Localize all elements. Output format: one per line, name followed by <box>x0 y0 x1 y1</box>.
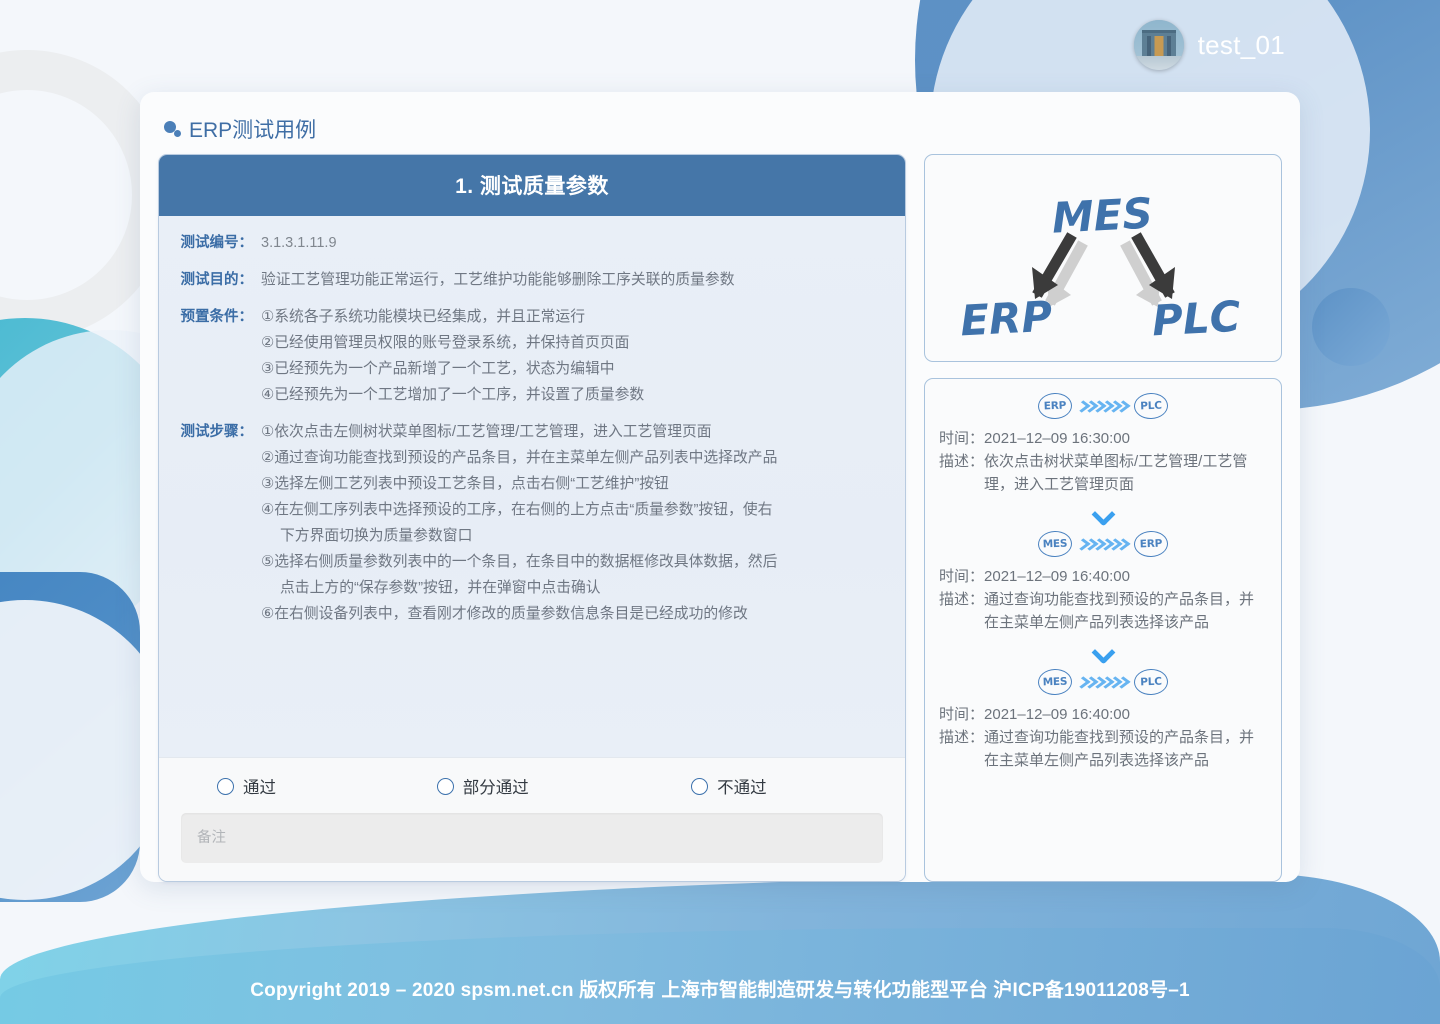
testcase-field-value: 3.1.3.1.11.9 <box>253 230 885 256</box>
timeline-separator <box>939 644 1267 661</box>
dots-icon <box>164 120 182 138</box>
testcase-title: 1. 测试质量参数 <box>159 155 905 216</box>
timeline-time-label: 时间： <box>939 427 984 450</box>
timeline-line: 时间：2021–12–09 16:40:00 <box>939 565 1267 588</box>
timeline-time-value: 2021–12–09 16:30:00 <box>984 427 1267 450</box>
timeline-desc-label: 描述： <box>939 450 984 496</box>
remark-input[interactable] <box>181 813 883 863</box>
timeline-panel: ERPPLC时间：2021–12–09 16:30:00描述：依次点击树状菜单图… <box>924 378 1282 882</box>
system-chip-to: PLC <box>1134 392 1169 419</box>
timeline-entry: MESERP时间：2021–12–09 16:40:00描述：通过查询功能查找到… <box>939 529 1267 634</box>
timeline-desc-label: 描述： <box>939 588 984 634</box>
system-chip-from: MES <box>1038 668 1073 695</box>
main-card: ERP测试用例 1. 测试质量参数 测试编号：3.1.3.1.11.9测试目的：… <box>140 92 1300 882</box>
timeline-flow-badges: MESPLC <box>939 669 1267 695</box>
timeline-entry: ERPPLC时间：2021–12–09 16:30:00描述：依次点击树状菜单图… <box>939 391 1267 496</box>
testcase-field-row: 测试编号：3.1.3.1.11.9 <box>171 230 885 256</box>
verdict-label: 通过 <box>243 774 276 798</box>
testcase-field-value: ①依次点击左侧树状菜单图标/工艺管理/工艺管理，进入工艺管理页面②通过查询功能查… <box>253 419 885 627</box>
flow-arrow-icon <box>1079 539 1127 550</box>
timeline-time-label: 时间： <box>939 565 984 588</box>
testcase-field-line: 3.1.3.1.11.9 <box>261 230 885 256</box>
testcase-field-line: ②已经使用管理员权限的账号登录系统，并保持首页页面 <box>261 330 885 356</box>
architecture-node-erp: ERP <box>959 292 1053 346</box>
user-name: test_01 <box>1198 30 1285 61</box>
verdict-label: 部分通过 <box>463 774 529 798</box>
testcase-field-value: ①系统各子系统功能模块已经集成，并且正常运行②已经使用管理员权限的账号登录系统，… <box>253 304 885 408</box>
avatar[interactable] <box>1134 20 1184 70</box>
timeline-desc-value: 通过查询功能查找到预设的产品条目，并在主菜单左侧产品列表选择该产品 <box>984 588 1267 634</box>
timeline-flow-badges: ERPPLC <box>939 393 1267 419</box>
chevron-down-icon <box>1091 502 1115 526</box>
testcase-field-line: ⑥在右侧设备列表中，查看刚才修改的质量参数信息条目是已经成功的修改 <box>261 601 885 627</box>
testcase-field-line: 点击上方的“保存参数”按钮，并在弹窗中点击确认 <box>261 575 885 601</box>
testcase-field-line: ①依次点击左侧树状菜单图标/工艺管理/工艺管理，进入工艺管理页面 <box>261 419 885 445</box>
testcase-field-line: ⑤选择右侧质量参数列表中的一个条目，在条目中的数据框修改具体数据，然后 <box>261 549 885 575</box>
radio-icon[interactable] <box>217 778 234 795</box>
testcase-field-line: ④已经预先为一个工艺增加了一个工序，并设置了质量参数 <box>261 382 885 408</box>
verdict-option-1[interactable]: 通过 <box>181 774 437 798</box>
right-column: MES ERP PLC ERPPLC时间：2021–12–09 16:30:00… <box>924 154 1282 882</box>
timeline-line: 时间：2021–12–09 16:40:00 <box>939 703 1267 726</box>
flow-arrow-icon <box>1079 677 1127 688</box>
testcase-field-label: 测试步骤： <box>171 419 253 627</box>
architecture-svg: MES ERP PLC <box>925 155 1281 361</box>
timeline-time-label: 时间： <box>939 703 984 726</box>
testcase-footer: 通过部分通过不通过 <box>159 757 905 881</box>
testcase-panel: 1. 测试质量参数 测试编号：3.1.3.1.11.9测试目的：验证工艺管理功能… <box>158 154 906 882</box>
background-square-blue <box>0 572 140 902</box>
testcase-fields: 测试编号：3.1.3.1.11.9测试目的：验证工艺管理功能正常运行，工艺维护功… <box>159 216 905 757</box>
architecture-node-mes: MES <box>1051 188 1154 242</box>
testcase-field-label: 测试目的： <box>171 267 253 293</box>
page-title-text: ERP测试用例 <box>189 114 316 144</box>
timeline-line: 时间：2021–12–09 16:30:00 <box>939 427 1267 450</box>
testcase-field-label: 测试编号： <box>171 230 253 256</box>
system-chip-to: ERP <box>1134 530 1169 557</box>
page-title: ERP测试用例 <box>164 114 1282 144</box>
testcase-field-value: 验证工艺管理功能正常运行，工艺维护功能能够删除工序关联的质量参数 <box>253 267 885 293</box>
timeline-flow-badges: MESERP <box>939 531 1267 557</box>
verdict-option-2[interactable]: 部分通过 <box>437 774 691 798</box>
timeline-time-value: 2021–12–09 16:40:00 <box>984 703 1267 726</box>
testcase-field-label: 预置条件： <box>171 304 253 408</box>
flow-arrow-icon <box>1079 401 1127 412</box>
timeline-line: 描述：通过查询功能查找到预设的产品条目，并在主菜单左侧产品列表选择该产品 <box>939 726 1267 772</box>
card-body: 1. 测试质量参数 测试编号：3.1.3.1.11.9测试目的：验证工艺管理功能… <box>158 154 1282 882</box>
system-chip-from: MES <box>1038 530 1073 557</box>
testcase-field-row: 预置条件：①系统各子系统功能模块已经集成，并且正常运行②已经使用管理员权限的账号… <box>171 304 885 408</box>
app-root: test_01 ERP测试用例 1. 测试质量参数 测试编号：3.1.3.1.1… <box>0 0 1440 1024</box>
timeline-line: 描述：依次点击树状菜单图标/工艺管理/工艺管理，进入工艺管理页面 <box>939 450 1267 496</box>
testcase-field-line: ④在左侧工序列表中选择预设的工序，在右侧的上方点击“质量参数”按钮，使右 <box>261 497 885 523</box>
timeline-desc-value: 依次点击树状菜单图标/工艺管理/工艺管理，进入工艺管理页面 <box>984 450 1267 496</box>
timeline-line: 描述：通过查询功能查找到预设的产品条目，并在主菜单左侧产品列表选择该产品 <box>939 588 1267 634</box>
background-dot-large <box>1312 288 1390 366</box>
testcase-field-row: 测试步骤：①依次点击左侧树状菜单图标/工艺管理/工艺管理，进入工艺管理页面②通过… <box>171 419 885 627</box>
timeline-desc-value: 通过查询功能查找到预设的产品条目，并在主菜单左侧产品列表选择该产品 <box>984 726 1267 772</box>
footer-copyright: Copyright 2019 – 2020 spsm.net.cn 版权所有 上… <box>0 975 1440 1002</box>
verdict-label: 不通过 <box>717 774 767 798</box>
testcase-field-line: ①系统各子系统功能模块已经集成，并且正常运行 <box>261 304 885 330</box>
chevron-down-icon <box>1091 640 1115 664</box>
testcase-field-line: ③已经预先为一个产品新增了一个工艺，状态为编辑中 <box>261 356 885 382</box>
user-menu[interactable]: test_01 <box>1134 20 1285 70</box>
system-chip-to: PLC <box>1134 668 1169 695</box>
testcase-field-row: 测试目的：验证工艺管理功能正常运行，工艺维护功能能够删除工序关联的质量参数 <box>171 267 885 293</box>
architecture-node-plc: PLC <box>1151 292 1242 346</box>
timeline-separator <box>939 506 1267 523</box>
radio-icon[interactable] <box>437 778 454 795</box>
testcase-field-line: ③选择左侧工艺列表中预设工艺条目，点击右侧“工艺维护”按钮 <box>261 471 885 497</box>
system-chip-from: ERP <box>1038 392 1073 419</box>
timeline-entry: MESPLC时间：2021–12–09 16:40:00描述：通过查询功能查找到… <box>939 667 1267 772</box>
testcase-field-line: 下方界面切换为质量参数窗口 <box>261 523 885 549</box>
timeline-desc-label: 描述： <box>939 726 984 772</box>
verdict-radio-group[interactable]: 通过部分通过不通过 <box>181 774 883 798</box>
testcase-field-line: ②通过查询功能查找到预设的产品条目，并在主菜单左侧产品列表中选择改产品 <box>261 445 885 471</box>
verdict-option-3[interactable]: 不通过 <box>691 774 883 798</box>
architecture-diagram: MES ERP PLC <box>924 154 1282 362</box>
testcase-field-line: 验证工艺管理功能正常运行，工艺维护功能能够删除工序关联的质量参数 <box>261 267 885 293</box>
radio-icon[interactable] <box>691 778 708 795</box>
timeline-time-value: 2021–12–09 16:40:00 <box>984 565 1267 588</box>
